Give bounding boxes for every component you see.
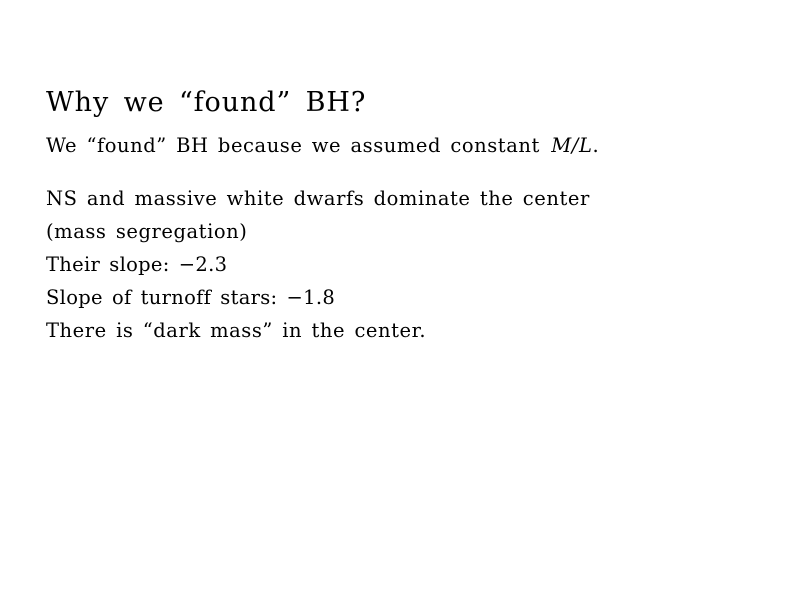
intro-paragraph: We “found” BH because we assumed constan… [46, 129, 599, 162]
intro-line-text: We “found” BH because we assumed constan… [46, 134, 549, 157]
math-mass-to-light-ratio: M/L [549, 134, 592, 157]
points-paragraph: NS and massive white dwarfs dominate the… [46, 182, 590, 347]
intro-line-period: . [593, 134, 600, 157]
page-title: Why we “found” BH? [46, 86, 366, 120]
slide-canvas: Why we “found” BH? We “found” BH because… [0, 0, 800, 600]
point-line-5: There is “dark mass” in the center. [46, 314, 590, 347]
point-line-3: Their slope: −2.3 [46, 248, 590, 281]
point-line-4: Slope of turnoff stars: −1.8 [46, 281, 590, 314]
point-line-1: NS and massive white dwarfs dominate the… [46, 182, 590, 215]
intro-line: We “found” BH because we assumed constan… [46, 129, 599, 162]
point-line-2: (mass segregation) [46, 215, 590, 248]
